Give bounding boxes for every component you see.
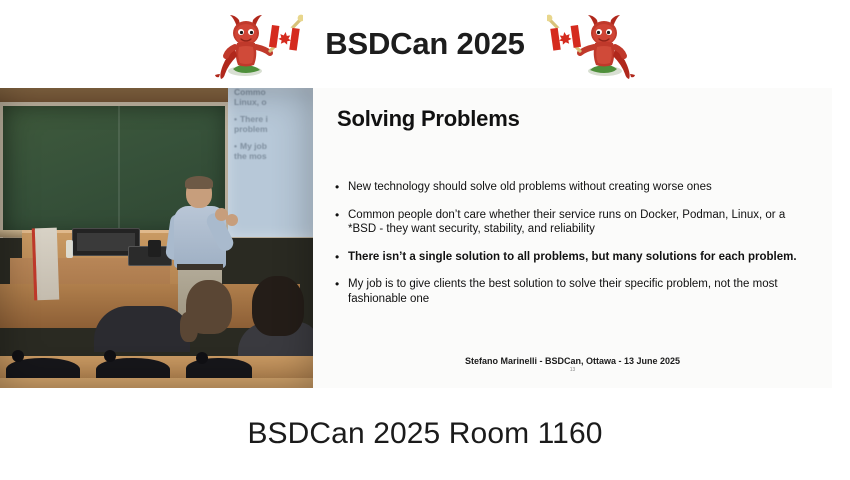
water-bottle [66,240,73,258]
slide-bullet-text: There isn’t a single solution to all pro… [348,250,813,265]
projected-line: Commo [234,88,266,97]
slide-page-number: 13 [313,367,832,373]
audience-head [252,276,304,336]
slide-bullet: • New technology should solve old proble… [335,180,813,195]
audience [0,274,313,388]
bullet-dot-icon: • [335,180,348,195]
bsd-daemon-canadian-flag-icon [547,9,635,79]
slide-bullet-text: Common people don’t care whether their s… [348,208,813,237]
room-caption-text: BSDCan 2025 Room 1160 [247,417,602,451]
projected-line: Linux, o [234,97,267,107]
slide-bullet: • There isn’t a single solution to all p… [335,250,813,265]
slide-bullet-list: • New technology should solve old proble… [335,180,813,319]
presentation-slide[interactable]: Solving Problems • New technology should… [313,88,832,388]
speaker-hair [185,176,213,189]
slide-bullet-text: New technology should solve old problems… [348,180,813,195]
bullet-dot-icon: • [335,250,348,265]
slide-bullet: • Common people don’t care whether their… [335,208,813,237]
speaker-video-panel[interactable]: Commo Linux, o •There i problem •My job … [0,88,313,388]
projected-line: There i [240,114,268,124]
projected-slide-text: Commo Linux, o •There i problem •My job … [234,88,313,168]
projected-line: the mos [234,151,267,161]
slide-title: Solving Problems [337,106,520,132]
slide-bullet: • My job is to give clients the best sol… [335,277,813,306]
lecture-hall-scene: Commo Linux, o •There i problem •My job … [0,88,313,388]
lecture-chair [186,358,252,380]
slide-bullet-text: My job is to give clients the best solut… [348,277,813,306]
chair-knob [104,350,116,362]
chair-knob [196,352,208,364]
audience-head [186,280,232,334]
bullet-dot-icon: • [335,208,348,223]
cup [148,240,161,257]
projected-line: My job [240,141,267,151]
speaker-belt [177,264,223,270]
page-header: BSDCan 2025 [0,0,850,88]
room-caption: BSDCan 2025 Room 1160 [0,388,850,480]
speaker-hand [226,214,238,226]
header-inner: BSDCan 2025 [0,0,850,88]
content-band: Commo Linux, o •There i problem •My job … [0,88,850,388]
projected-line: problem [234,124,268,134]
bullet-dot-icon: • [335,277,348,292]
projection-screen: Commo Linux, o •There i problem •My job … [228,88,313,237]
slide-footer: Stefano Marinelli - BSDCan, Ottawa - 13 … [313,356,832,366]
page-title: BSDCan 2025 [325,28,524,61]
audience-shoulders [94,306,190,352]
chair-knob [12,350,24,362]
bsd-daemon-canadian-flag-icon [215,9,303,79]
lecture-desk-row [0,378,313,388]
